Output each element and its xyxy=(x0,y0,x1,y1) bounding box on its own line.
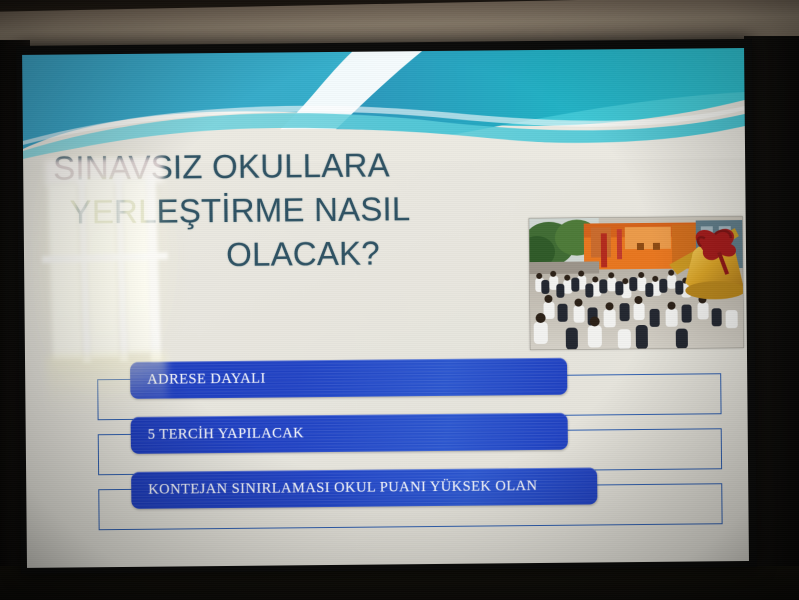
title-line-1: SINAVSIZ OKULLARA xyxy=(47,142,517,190)
slide-surface: SINAVSIZ OKULLARA YERLEŞTİRME NASIL OLAC… xyxy=(22,48,749,568)
bullet-bar[interactable]: ADRESE DAYALI xyxy=(130,358,567,399)
school-courtyard-photo xyxy=(529,216,744,350)
bullet-item[interactable]: ADRESE DAYALI xyxy=(97,362,98,420)
projection-screen-frame: SINAVSIZ OKULLARA YERLEŞTİRME NASIL OLAC… xyxy=(16,39,757,574)
photo-of-projection-screen: SINAVSIZ OKULLARA YERLEŞTİRME NASIL OLAC… xyxy=(0,0,799,600)
title-line-2: YERLEŞTİRME NASIL xyxy=(47,186,517,234)
bullet-label: ADRESE DAYALI xyxy=(130,371,266,389)
title-line-3: OLACAK? xyxy=(48,230,518,278)
bullet-label: KONTEJAN SINIRLAMASI OKUL PUANI YÜKSEK O… xyxy=(131,478,537,499)
bullet-bar[interactable]: 5 TERCİH YAPILACAK xyxy=(131,413,568,454)
slide-title: SINAVSIZ OKULLARA YERLEŞTİRME NASIL OLAC… xyxy=(47,142,518,278)
bullet-bar[interactable]: KONTEJAN SINIRLAMASI OKUL PUANI YÜKSEK O… xyxy=(131,467,597,508)
bullet-item[interactable]: 5 TERCİH YAPILACAK xyxy=(98,417,99,475)
bullet-item[interactable]: KONTEJAN SINIRLAMASI OKUL PUANI YÜKSEK O… xyxy=(98,472,99,530)
bullet-label: 5 TERCİH YAPILACAK xyxy=(131,425,304,444)
